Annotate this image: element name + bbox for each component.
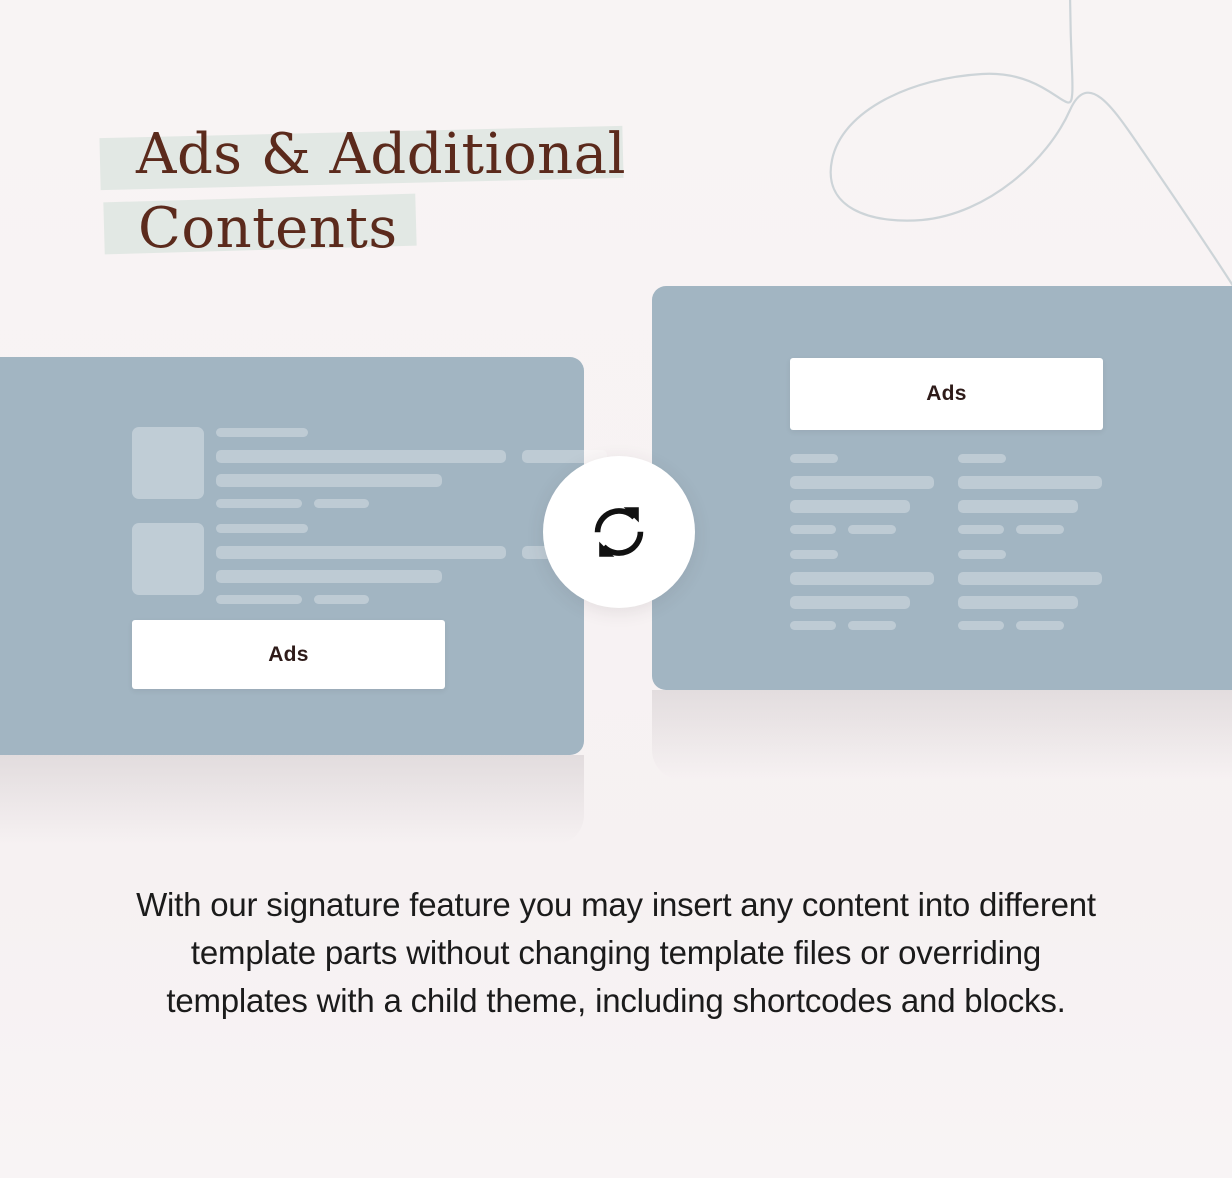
skeleton-line [1016,621,1064,630]
skeleton-line [958,500,1078,513]
caption-text: With our signature feature you may inser… [116,881,1116,1025]
heading-line-2: Contents [100,192,720,266]
skeleton-line [958,572,1102,585]
skeleton-line [790,621,836,630]
ads-slot-left[interactable]: Ads [132,620,445,689]
skeleton-line [958,550,1006,559]
skeleton-line [216,524,308,533]
skeleton-line [958,596,1078,609]
page-root: Ads & Additional Contents Ads [0,0,1232,1178]
skeleton-line [790,476,934,489]
skeleton-line [314,595,369,604]
skeleton-line [790,500,910,513]
skeleton-line [216,595,302,604]
skeleton-line [790,596,910,609]
left-card-shadow [0,755,584,845]
skeleton-line [958,454,1006,463]
ads-label: Ads [926,382,967,406]
skeleton-line [216,474,442,487]
skeleton-line [216,428,308,437]
page-title: Ads & Additional Contents [100,118,720,266]
skeleton-line [216,570,442,583]
right-preview-card [652,286,1232,690]
skeleton-line [216,499,302,508]
decorative-swirl-line [812,0,1232,300]
heading-text-line1: Ads & Additional [100,122,626,187]
skeleton-line [848,621,896,630]
skeleton-line [790,550,838,559]
skeleton-thumbnail [132,523,204,595]
left-preview-card [0,357,584,755]
ads-label: Ads [268,643,309,667]
skeleton-line [216,546,506,559]
skeleton-thumbnail [132,427,204,499]
heading-line-1: Ads & Additional [100,118,720,192]
right-card-shadow [652,690,1232,780]
skeleton-line [790,454,838,463]
ads-slot-right[interactable]: Ads [790,358,1103,430]
skeleton-line [958,525,1004,534]
skeleton-line [314,499,369,508]
skeleton-line [1016,525,1064,534]
skeleton-line [790,525,836,534]
skeleton-line [958,621,1004,630]
skeleton-line [790,572,934,585]
skeleton-line [848,525,896,534]
heading-text-line2: Contents [100,196,398,261]
refresh-sync-icon [586,499,652,565]
skeleton-line [958,476,1102,489]
skeleton-line [216,450,506,463]
sync-badge[interactable] [543,456,695,608]
